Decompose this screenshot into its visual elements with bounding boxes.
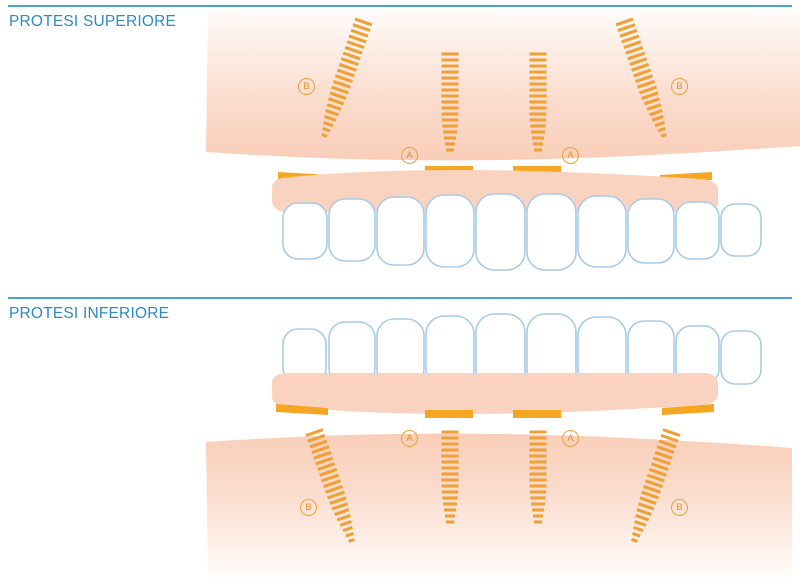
upper-teeth-row bbox=[283, 194, 761, 270]
tooth bbox=[377, 197, 424, 265]
lower-prosthesis-panel: PROTESI INFERIORE bbox=[0, 290, 800, 578]
upper-prosthesis-diagram bbox=[0, 0, 800, 290]
callout-attachment-a-left-lower: A bbox=[401, 430, 418, 447]
callout-implant-b-right-upper: B bbox=[671, 78, 688, 95]
lower-prosthesis-diagram bbox=[0, 290, 800, 578]
callout-attachment-a-right-lower: A bbox=[562, 430, 579, 447]
tooth bbox=[426, 195, 474, 267]
tooth bbox=[628, 199, 674, 263]
mandible-bone-region bbox=[206, 434, 792, 578]
lower-denture-base bbox=[272, 373, 718, 414]
callout-attachment-a-right-upper: A bbox=[562, 147, 579, 164]
upper-prosthesis-panel: PROTESI SUPERIORE bbox=[0, 0, 800, 290]
tooth bbox=[676, 202, 719, 259]
attachment-bar-3 bbox=[513, 410, 561, 418]
tooth bbox=[476, 194, 525, 270]
tooth bbox=[721, 204, 761, 256]
tooth bbox=[527, 194, 576, 270]
tooth bbox=[721, 331, 761, 384]
callout-implant-b-right-lower: B bbox=[671, 499, 688, 516]
tooth bbox=[283, 203, 327, 259]
attachment-bar-2 bbox=[425, 410, 473, 418]
callout-implant-b-left-upper: B bbox=[298, 78, 315, 95]
tooth bbox=[578, 196, 626, 267]
callout-implant-b-left-lower: B bbox=[300, 499, 317, 516]
callout-attachment-a-left-upper: A bbox=[401, 147, 418, 164]
tooth bbox=[329, 199, 375, 261]
maxilla-bone-region bbox=[206, 8, 800, 160]
